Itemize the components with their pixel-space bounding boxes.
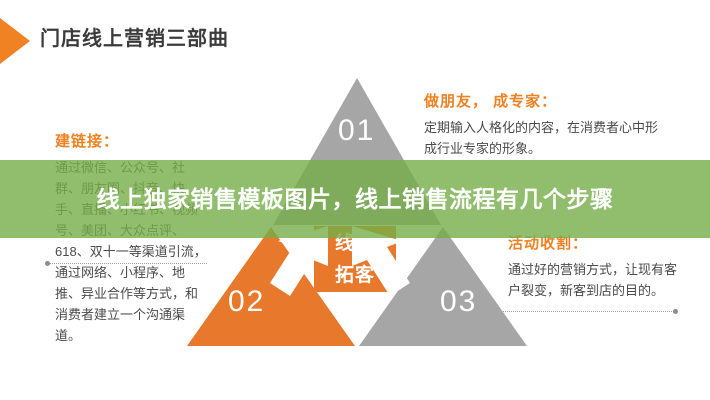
text-block-bottom-right: 活动收割： 通过好的营销方式，让现有客户裂变，新客到店的目的。	[508, 232, 688, 301]
overlay-banner: 线上独家销售模板图片，线上销售流程有几个步骤	[0, 160, 710, 238]
text-block-left-heading: 建链接：	[55, 130, 210, 151]
connector-dot-left	[45, 261, 50, 266]
step-number-01: 01	[338, 114, 375, 148]
arrow-right-icon	[0, 18, 30, 64]
infographic-canvas: 门店线上营销三部曲 01 02 03 线上 拓客 建链接： 通过微信、公众号、社…	[0, 0, 710, 400]
page-title: 门店线上营销三部曲	[40, 22, 229, 51]
text-block-top-right-heading: 做朋友， 成专家：	[424, 90, 659, 111]
connector-dot-right-end	[673, 309, 678, 314]
overlay-banner-text: 线上独家销售模板图片，线上销售流程有几个步骤	[35, 184, 675, 215]
text-block-top-right-body: 定期输入人格化的内容，在消费者心中形成行业专家的形象。	[424, 117, 659, 159]
step-number-02: 02	[228, 285, 265, 319]
step-number-03: 03	[440, 285, 477, 319]
center-label-line2: 拓客	[314, 260, 396, 292]
text-block-top-right: 做朋友， 成专家： 定期输入人格化的内容，在消费者心中形成行业专家的形象。	[424, 90, 659, 159]
text-block-bottom-right-body: 通过好的营销方式，让现有客户裂变，新客到店的目的。	[508, 259, 688, 301]
